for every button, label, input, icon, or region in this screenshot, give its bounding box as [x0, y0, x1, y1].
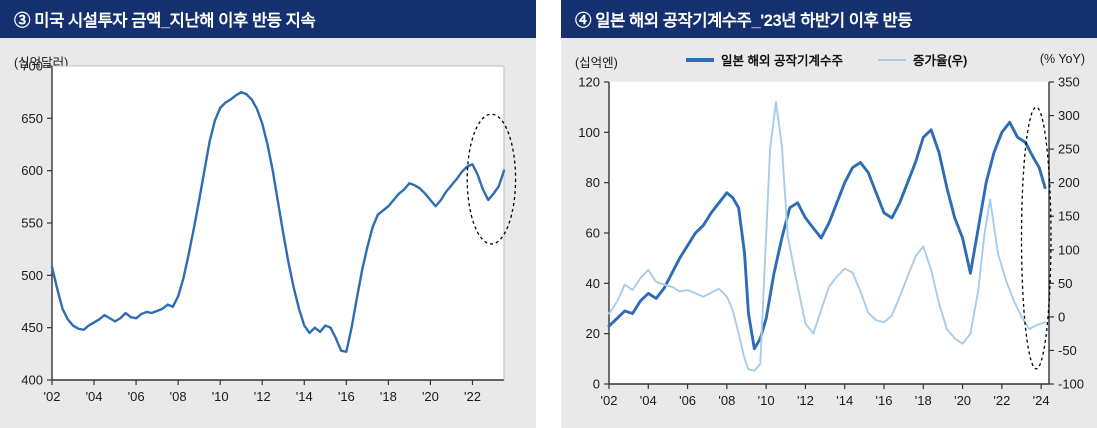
- panel-title-us-capex: ③ 미국 시설투자 금액_지난해 이후 반등 지속: [0, 0, 536, 38]
- panel-us-capex: ③ 미국 시설투자 금액_지난해 이후 반등 지속 (십억달러) 4004505…: [0, 0, 536, 428]
- y-tick-label-right: 0: [1058, 309, 1065, 324]
- y-tick-label-left: 600: [21, 163, 43, 178]
- y-tick-label-right: -100: [1058, 377, 1084, 392]
- y-tick-label-left: 550: [21, 216, 43, 231]
- x-tick-label: '10: [758, 393, 775, 408]
- x-tick-label: '06: [128, 389, 145, 404]
- x-tick-label: '12: [797, 393, 814, 408]
- x-tick-label: '14: [836, 393, 853, 408]
- y-tick-label-right: 300: [1058, 108, 1080, 123]
- plot-background: [52, 66, 504, 380]
- x-tick-label: '16: [876, 393, 893, 408]
- chart-area-us-capex: (십억달러) 400450500550600650700'02'04'06'08…: [0, 38, 536, 428]
- x-tick-label: '02: [44, 389, 61, 404]
- japan-orders-line-chart: 020406080100120-100-50050100150200250300…: [561, 38, 1097, 428]
- x-tick-label: '04: [640, 393, 657, 408]
- x-tick-label: '22: [993, 393, 1010, 408]
- y-tick-label-left: 20: [586, 326, 600, 341]
- x-tick-label: '14: [296, 389, 313, 404]
- y-tick-label-right: 150: [1058, 209, 1080, 224]
- y-tick-label-left: 100: [578, 125, 600, 140]
- y-tick-label-right: 350: [1058, 75, 1080, 90]
- chart-area-japan-orders: (십억엔) (% YoY) 일본 해외 공작기계수주 증가율(우) 020406…: [561, 38, 1097, 428]
- y-tick-label-left: 700: [21, 59, 43, 74]
- x-tick-label: '02: [601, 393, 618, 408]
- y-tick-label-right: -50: [1058, 343, 1077, 358]
- x-tick-label: '22: [464, 389, 481, 404]
- panel-japan-orders: ④ 일본 해외 공작기계수주_'23년 하반기 이후 반등 (십억엔) (% Y…: [561, 0, 1097, 428]
- x-tick-label: '10: [212, 389, 229, 404]
- y-tick-label-right: 200: [1058, 175, 1080, 190]
- chart-board: ③ 미국 시설투자 금액_지난해 이후 반등 지속 (십억달러) 4004505…: [0, 0, 1097, 428]
- x-tick-label: '08: [718, 393, 735, 408]
- y-tick-label-right: 100: [1058, 242, 1080, 257]
- x-tick-label: '24: [1033, 393, 1050, 408]
- y-tick-label-left: 500: [21, 268, 43, 283]
- panel-title-japan-orders: ④ 일본 해외 공작기계수주_'23년 하반기 이후 반등: [561, 0, 1097, 38]
- y-tick-label-left: 60: [586, 226, 600, 241]
- y-tick-label-left: 400: [21, 373, 43, 388]
- y-tick-label-left: 450: [21, 320, 43, 335]
- us-capex-line-chart: 400450500550600650700'02'04'06'08'10'12'…: [0, 38, 536, 428]
- x-tick-label: '20: [422, 389, 439, 404]
- x-tick-label: '12: [254, 389, 271, 404]
- x-tick-label: '04: [86, 389, 103, 404]
- x-tick-label: '20: [954, 393, 971, 408]
- y-tick-label-left: 0: [593, 377, 600, 392]
- x-tick-label: '08: [170, 389, 187, 404]
- x-tick-label: '18: [380, 389, 397, 404]
- y-tick-label-right: 50: [1058, 276, 1072, 291]
- y-tick-label-right: 250: [1058, 142, 1080, 157]
- y-tick-label-left: 40: [586, 276, 600, 291]
- y-tick-label-left: 650: [21, 111, 43, 126]
- x-tick-label: '16: [338, 389, 355, 404]
- y-tick-label-left: 120: [578, 75, 600, 90]
- x-tick-label: '18: [915, 393, 932, 408]
- x-tick-label: '06: [679, 393, 696, 408]
- y-tick-label-left: 80: [586, 175, 600, 190]
- plot-background: [609, 82, 1049, 384]
